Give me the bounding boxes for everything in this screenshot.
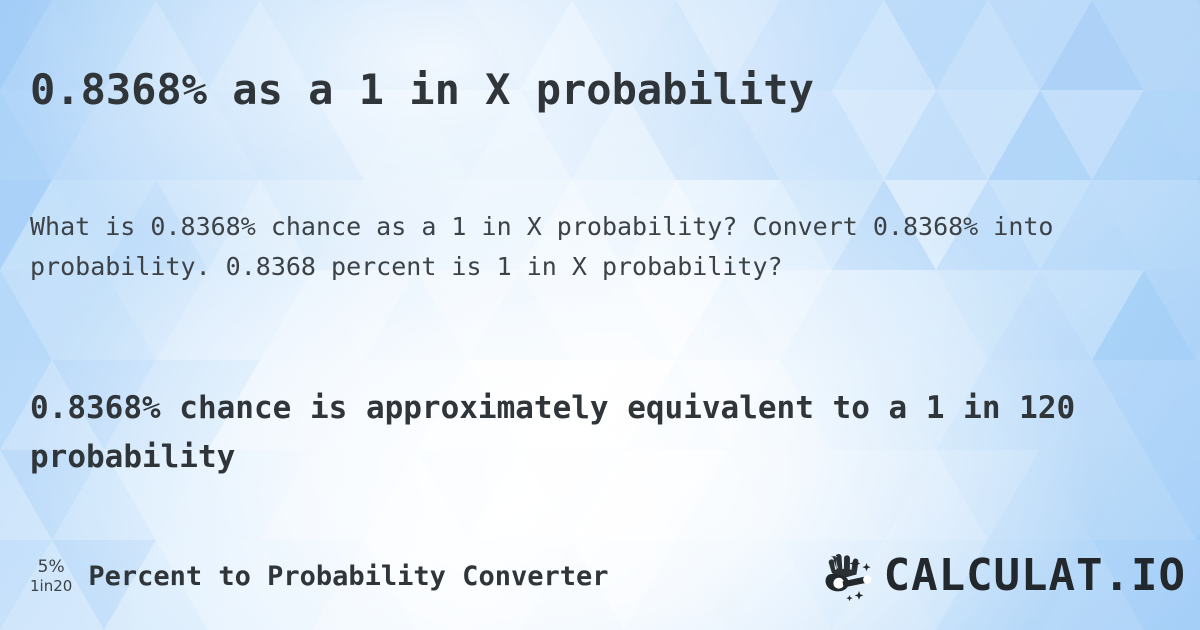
percent-to-probability-mark-icon: 5% 1in20 [30, 559, 72, 594]
site-logo[interactable]: CALCULAT.IO [820, 547, 1186, 605]
mark-oneinx-label: 1in20 [30, 579, 72, 594]
magic-wand-hand-icon [820, 550, 882, 602]
footer-tool-title: Percent to Probability Converter [88, 561, 608, 592]
conversion-result: 0.8368% chance is approximately equivale… [30, 384, 1180, 482]
page-description: What is 0.8368% chance as a 1 in X proba… [30, 207, 1090, 286]
page-title: 0.8368% as a 1 in X probability [30, 66, 1180, 114]
mark-percent-label: 5% [38, 559, 65, 576]
calculatio-wordmark: CALCULAT.IO [884, 554, 1186, 598]
footer: 5% 1in20 Percent to Probability Converte… [0, 545, 1200, 615]
footer-brand-group: 5% 1in20 Percent to Probability Converte… [30, 545, 608, 607]
share-image-card: 0.8368% as a 1 in X probability What is … [0, 0, 1200, 630]
